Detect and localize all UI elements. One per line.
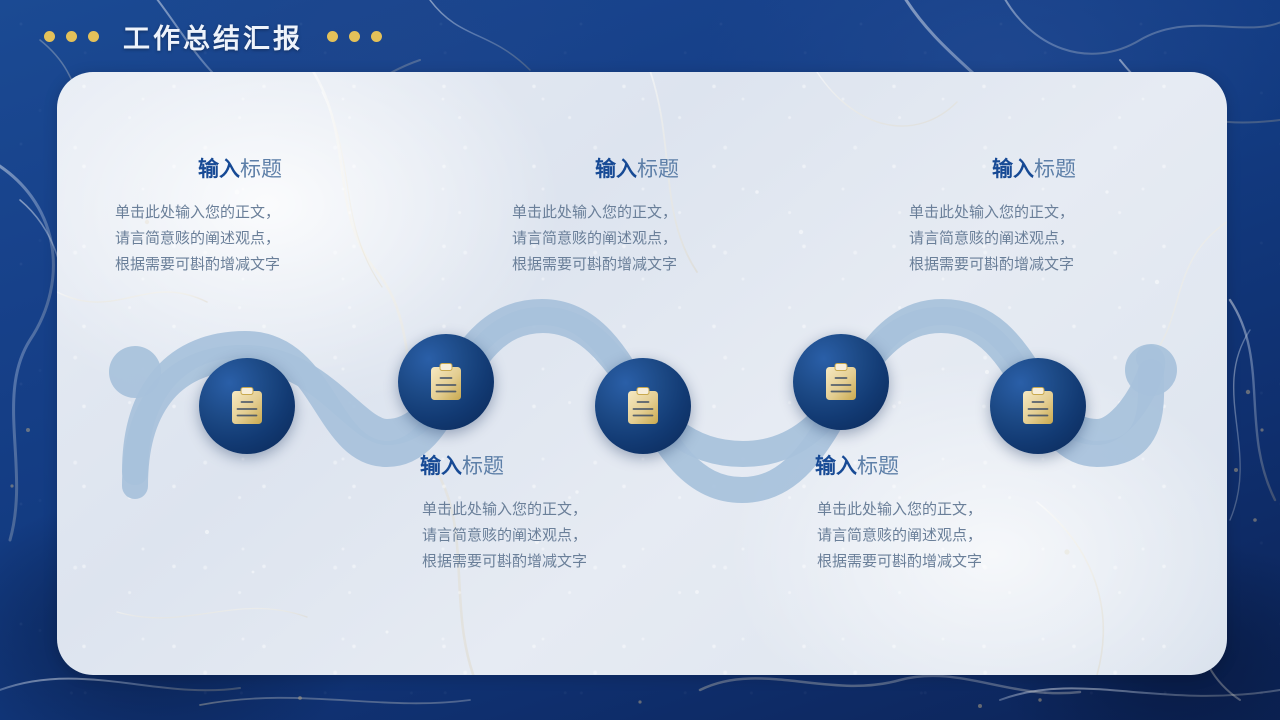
block-body-2: 单击此处输入您的正文， 请言简意赅的阐述观点， 根据需要可斟酌增减文字 bbox=[337, 497, 587, 575]
text-block-2: 输入标题 单击此处输入您的正文， 请言简意赅的阐述观点， 根据需要可斟酌增减文字 bbox=[337, 454, 587, 575]
text-block-4: 输入标题 单击此处输入您的正文， 请言简意赅的阐述观点， 根据需要可斟酌增减文字 bbox=[732, 454, 982, 575]
clipboard-icon bbox=[824, 362, 858, 402]
gold-dot-icon bbox=[88, 31, 99, 42]
block-title-bold-4: 输入 bbox=[815, 455, 857, 478]
header-dots-left bbox=[44, 31, 99, 42]
header-dots-right bbox=[327, 31, 382, 42]
block-title-4: 输入标题 bbox=[732, 454, 982, 480]
gold-dot-icon bbox=[44, 31, 55, 42]
gold-dot-icon bbox=[371, 31, 382, 42]
node-circle-5[interactable] bbox=[990, 358, 1086, 454]
block-title-5: 输入标题 bbox=[909, 157, 1159, 183]
block-title-bold-3: 输入 bbox=[595, 158, 637, 181]
block-title-bold-2: 输入 bbox=[420, 455, 462, 478]
node-circle-3[interactable] bbox=[595, 358, 691, 454]
clipboard-icon bbox=[626, 386, 660, 426]
block-body-3: 单击此处输入您的正文， 请言简意赅的阐述观点， 根据需要可斟酌增减文字 bbox=[512, 200, 762, 278]
node-circle-2[interactable] bbox=[398, 334, 494, 430]
block-title-light-3: 标题 bbox=[637, 158, 679, 181]
block-title-bold-1: 输入 bbox=[198, 158, 240, 181]
block-body-1: 单击此处输入您的正文， 请言简意赅的阐述观点， 根据需要可斟酌增减文字 bbox=[115, 200, 365, 278]
gold-dot-icon bbox=[327, 31, 338, 42]
block-title-3: 输入标题 bbox=[512, 157, 762, 183]
block-title-bold-5: 输入 bbox=[992, 158, 1034, 181]
gold-dot-icon bbox=[349, 31, 360, 42]
block-title-light-1: 标题 bbox=[240, 158, 282, 181]
text-block-1: 输入标题 单击此处输入您的正文， 请言简意赅的阐述观点， 根据需要可斟酌增减文字 bbox=[115, 157, 365, 278]
block-body-4: 单击此处输入您的正文， 请言简意赅的阐述观点， 根据需要可斟酌增减文字 bbox=[732, 497, 982, 575]
node-circle-1[interactable] bbox=[199, 358, 295, 454]
text-block-3: 输入标题 单击此处输入您的正文， 请言简意赅的阐述观点， 根据需要可斟酌增减文字 bbox=[512, 157, 762, 278]
content-card: 输入标题 单击此处输入您的正文， 请言简意赅的阐述观点， 根据需要可斟酌增减文字… bbox=[57, 72, 1227, 675]
text-block-5: 输入标题 单击此处输入您的正文， 请言简意赅的阐述观点， 根据需要可斟酌增减文字 bbox=[909, 157, 1159, 278]
node-circle-4[interactable] bbox=[793, 334, 889, 430]
block-title-light-4: 标题 bbox=[857, 455, 899, 478]
wave-right-endpoint-dot bbox=[1125, 344, 1177, 396]
page-title: 工作总结汇报 bbox=[123, 17, 303, 56]
block-title-2: 输入标题 bbox=[337, 454, 587, 480]
block-title-light-5: 标题 bbox=[1034, 158, 1076, 181]
clipboard-icon bbox=[1021, 386, 1055, 426]
clipboard-icon bbox=[230, 386, 264, 426]
slide-header: 工作总结汇报 bbox=[0, 0, 1280, 72]
block-title-light-2: 标题 bbox=[462, 455, 504, 478]
gold-dot-icon bbox=[66, 31, 77, 42]
block-title-1: 输入标题 bbox=[115, 157, 365, 183]
wave-left-endpoint-dot bbox=[109, 346, 161, 398]
block-body-5: 单击此处输入您的正文， 请言简意赅的阐述观点， 根据需要可斟酌增减文字 bbox=[909, 200, 1159, 278]
clipboard-icon bbox=[429, 362, 463, 402]
